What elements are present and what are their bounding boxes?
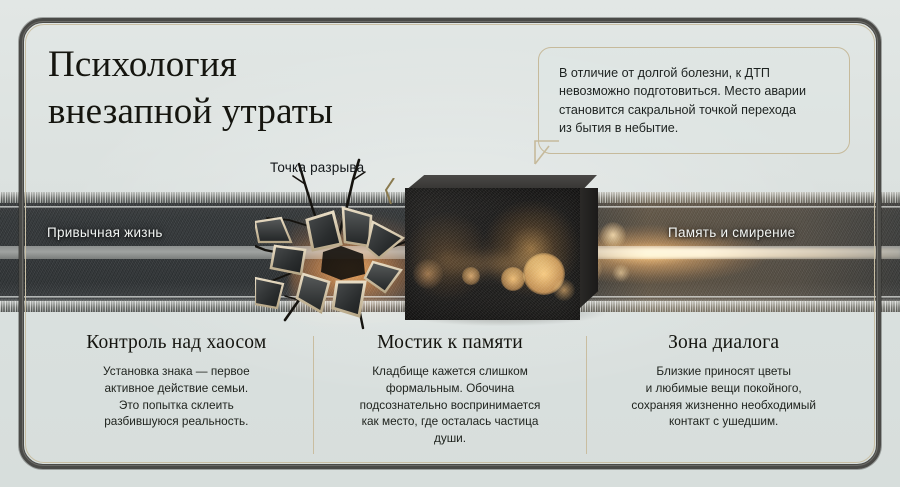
page-title-line-2: внезапной утраты xyxy=(48,89,508,136)
breakpoint-label: Точка разрыва xyxy=(270,160,364,175)
column-bridge-to-memory: Мостик к памяти Кладбище кажется слишком… xyxy=(314,332,587,447)
road-edge-line-top xyxy=(0,206,900,208)
callout-bubble: В отличие от долгой болезни, к ДТП невоз… xyxy=(538,47,850,154)
callout-bubble-text: В отличие от долгой болезни, к ДТП невоз… xyxy=(559,64,831,137)
page-title: Психология внезапной утраты xyxy=(48,42,508,136)
block-ground-shadow xyxy=(400,312,605,326)
column-heading: Контроль над хаосом xyxy=(54,332,299,354)
curb-strip-top xyxy=(0,192,900,203)
band-label-left: Привычная жизнь xyxy=(47,225,163,240)
column-dialogue-zone: Зона диалога Близкие приносят цветы и лю… xyxy=(587,332,860,430)
block-top-face xyxy=(405,175,597,191)
road-edge-line-bottom xyxy=(0,296,900,298)
column-body: Близкие приносят цветы и любимые вещи по… xyxy=(601,363,846,430)
road-band xyxy=(0,192,900,312)
infographic-poster: Привычная жизнь Память и смирение Психол… xyxy=(0,0,900,487)
columns-row: Контроль над хаосом Установка знака — пе… xyxy=(40,332,860,456)
band-label-right: Память и смирение xyxy=(668,225,795,240)
curb-strip-bottom xyxy=(0,301,900,312)
column-heading: Мостик к памяти xyxy=(328,332,573,354)
column-body: Кладбище кажется слишком формальным. Обо… xyxy=(328,363,573,447)
column-control-over-chaos: Контроль над хаосом Установка знака — пе… xyxy=(40,332,313,430)
page-title-line-1: Психология xyxy=(48,42,508,89)
road-median-line xyxy=(0,246,900,259)
column-body: Установка знака — первое активное действ… xyxy=(54,363,299,430)
column-heading: Зона диалога xyxy=(601,332,846,354)
